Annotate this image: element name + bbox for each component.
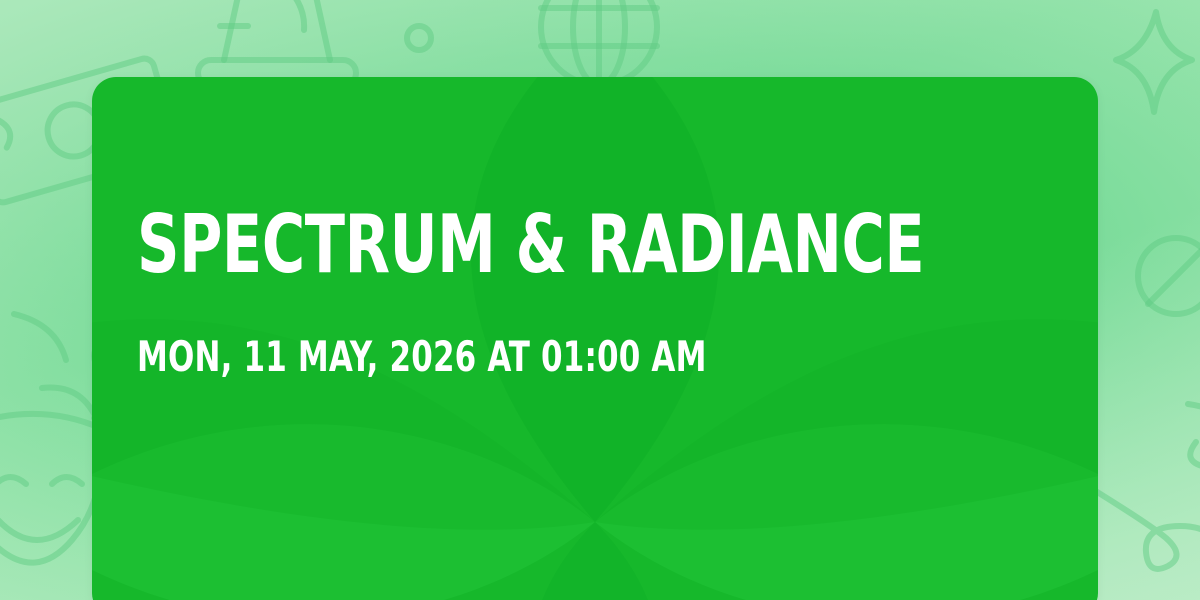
event-card: Spectrum & Radiance Mon, 11 May, 2026 at… xyxy=(92,77,1098,600)
circle-dot-icon xyxy=(395,14,443,62)
event-title: Spectrum & Radiance xyxy=(137,207,892,284)
microphone-icon xyxy=(1130,230,1200,390)
sparkle-icon xyxy=(1098,0,1200,130)
card-text-block: Spectrum & Radiance Mon, 11 May, 2026 at… xyxy=(137,207,1058,378)
event-datetime: Mon, 11 May, 2026 at 01:00 AM xyxy=(137,284,892,378)
event-banner: Spectrum & Radiance Mon, 11 May, 2026 at… xyxy=(0,0,1200,600)
